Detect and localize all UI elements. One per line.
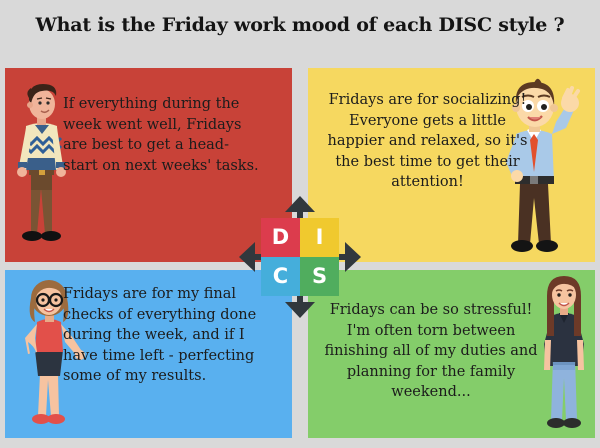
infographic-canvas: What is the Friday work mood of each DIS… bbox=[0, 0, 600, 448]
arrow-down-icon bbox=[285, 302, 315, 318]
quadrant-text-d: If everything during the week went well,… bbox=[63, 94, 263, 176]
quadrant-text-c: Fridays are for my final checks of every… bbox=[63, 284, 258, 387]
badge-cell-s: S bbox=[300, 257, 339, 296]
arrow-right-icon bbox=[345, 242, 361, 272]
quadrant-panel-c: Fridays are for my final checks of every… bbox=[5, 270, 292, 438]
quadrant-panel-d: If everything during the week went well,… bbox=[5, 68, 292, 262]
arrow-left-icon bbox=[239, 242, 255, 272]
quadrant-text-i: Fridays are for socializing! Everyone ge… bbox=[320, 90, 535, 193]
badge-cell-d: D bbox=[261, 218, 300, 257]
disc-model-badge: D I C S bbox=[261, 218, 339, 296]
quadrant-text-s: Fridays can be so stressful! I'm often t… bbox=[322, 300, 540, 403]
quadrant-panel-i: Fridays are for socializing! Everyone ge… bbox=[308, 68, 595, 262]
page-title: What is the Friday work mood of each DIS… bbox=[0, 14, 600, 36]
arrow-up-icon bbox=[285, 196, 315, 212]
quadrant-panel-s: Fridays can be so stressful! I'm often t… bbox=[308, 270, 595, 438]
badge-cell-c: C bbox=[261, 257, 300, 296]
badge-cell-i: I bbox=[300, 218, 339, 257]
figure-woman-in-jeans bbox=[533, 274, 595, 438]
